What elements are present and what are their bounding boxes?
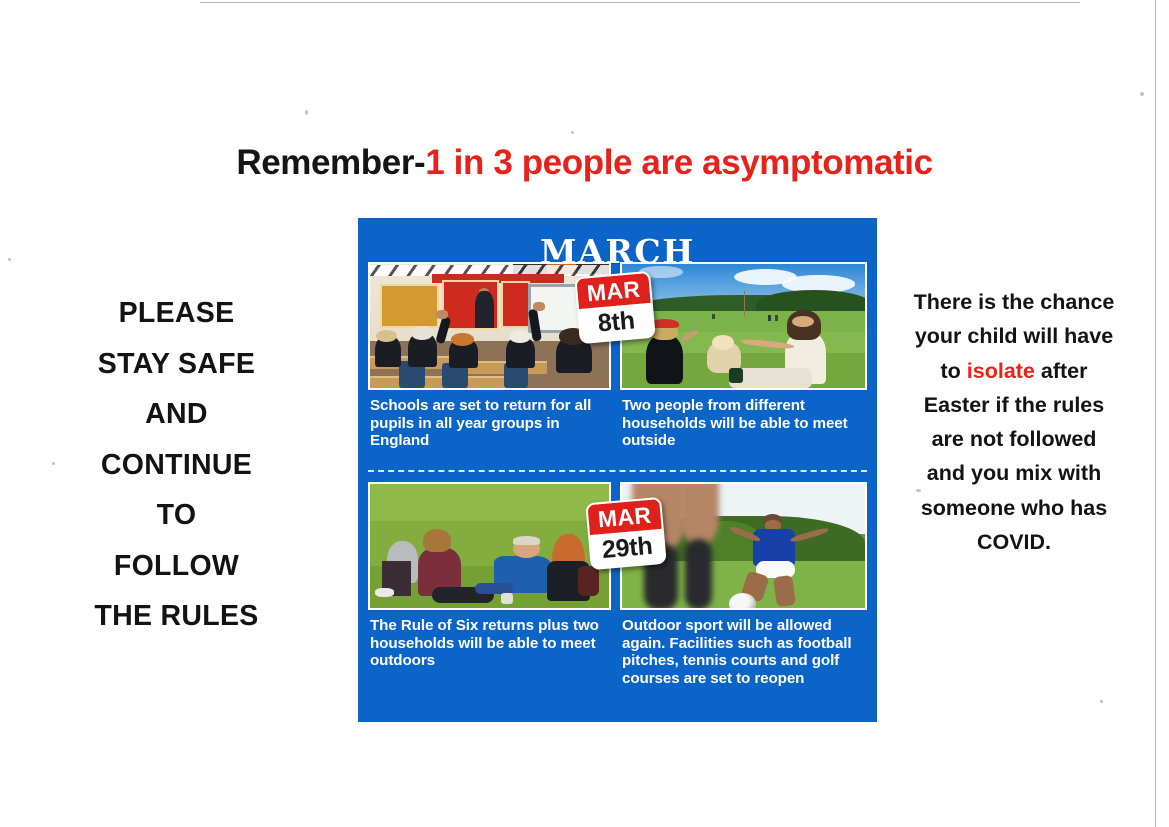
right-message-after: after Easter if the rules are not follow… <box>921 359 1107 554</box>
dog-head <box>712 335 734 350</box>
scan-speck <box>1140 92 1144 96</box>
calendar-cell-2: Two people from different households wil… <box>620 262 867 462</box>
person-maroon-hair <box>423 529 452 553</box>
date-badge-month: MAR <box>576 273 650 309</box>
date-badge-mar-8: MAR 8th <box>574 271 656 344</box>
scan-edge-top <box>200 2 1080 3</box>
football-ball <box>729 593 756 610</box>
pupil-hair <box>451 333 474 345</box>
foreground-leg-blur <box>680 482 719 544</box>
calendar-cell-4-caption: Outdoor sport will be allowed again. Fac… <box>622 617 869 687</box>
scan-speck <box>1100 700 1103 703</box>
headline-statistic: 1 in 3 people are asymptomatic <box>425 143 932 182</box>
left-message-line: STAY SAFE <box>44 339 309 390</box>
drink-cup <box>501 593 513 604</box>
foreground-sock-blur <box>685 539 712 610</box>
teacher-body <box>475 291 494 328</box>
classroom-display-board <box>501 281 530 328</box>
park-picnic-photo <box>620 262 867 390</box>
person-blue-hair <box>513 536 539 545</box>
shoe <box>375 588 394 597</box>
calendar-cell-3-caption: The Rule of Six returns plus two househo… <box>370 617 613 670</box>
park-post <box>744 291 746 316</box>
left-message-line: THE RULES <box>44 591 309 642</box>
calendar-cell-3: The Rule of Six returns plus two househo… <box>368 482 611 702</box>
headline-lead: Remember- <box>236 143 425 182</box>
right-message-highlight: isolate <box>967 359 1035 383</box>
grass-light <box>370 484 609 521</box>
date-badge-day: 29th <box>590 529 665 568</box>
pupil-hand <box>533 302 545 311</box>
left-message-line: AND <box>44 389 309 440</box>
calendar-cell-1-caption: Schools are set to return for all pupils… <box>370 397 613 450</box>
row-divider <box>368 470 867 472</box>
woman-left-body <box>646 335 682 385</box>
scan-speck <box>8 258 11 261</box>
right-message: There is the chance your child will have… <box>913 285 1115 559</box>
left-message-line: TO <box>44 490 309 541</box>
distant-person <box>775 315 778 321</box>
classroom-display-board <box>380 284 440 329</box>
date-badge-mar-29: MAR 29th <box>585 497 667 570</box>
bottle <box>729 368 744 383</box>
distant-person <box>768 315 771 321</box>
left-message-line: CONTINUE <box>44 440 309 491</box>
page-headline: Remember-1 in 3 people are asymptomatic <box>0 143 1169 183</box>
group-on-grass-photo <box>368 482 611 610</box>
scan-speck <box>305 110 308 115</box>
left-message-line: PLEASE <box>44 288 309 339</box>
distant-person <box>712 314 715 319</box>
scan-edge-right <box>1155 0 1156 827</box>
pupil-hair <box>411 326 434 340</box>
left-message-line: FOLLOW <box>44 541 309 592</box>
date-badge-day: 8th <box>579 303 654 342</box>
calendar-cell-2-caption: Two people from different households wil… <box>622 397 869 450</box>
backpack <box>578 566 600 596</box>
left-message: PLEASE STAY SAFE AND CONTINUE TO FOLLOW … <box>44 288 309 642</box>
classroom-photo <box>368 262 611 390</box>
pupil-hand <box>436 310 448 319</box>
scan-speck <box>571 131 574 134</box>
